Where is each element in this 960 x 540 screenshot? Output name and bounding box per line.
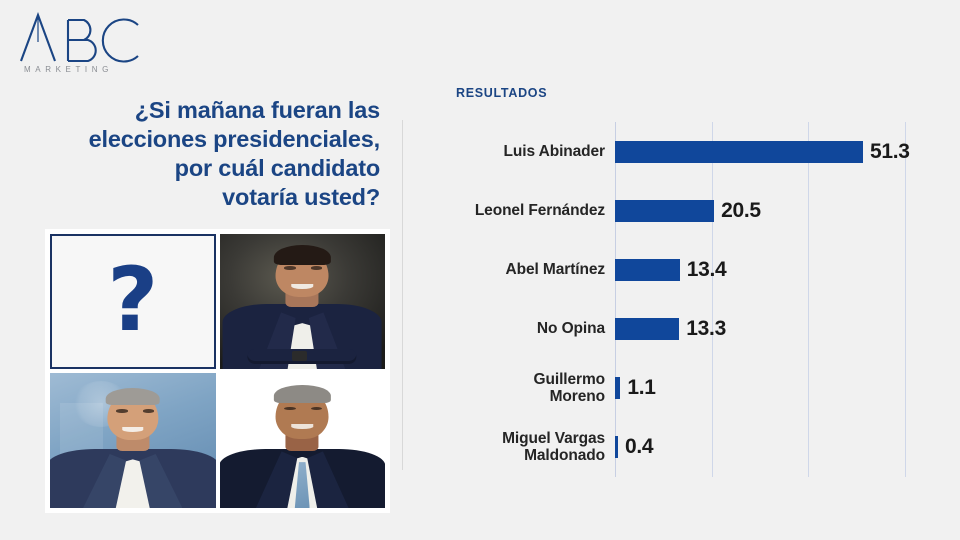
chart-row-label-line: Maldonado: [403, 447, 605, 464]
chart-row-label: Leonel Fernández: [403, 202, 615, 219]
chart-row-label-line: Miguel Vargas: [403, 430, 605, 447]
question-mark-placeholder: ?: [50, 234, 216, 369]
chart-row-label-line: Leonel Fernández: [403, 202, 605, 219]
portrait-image: [50, 373, 216, 508]
chart-bar[interactable]: [615, 377, 620, 399]
logo-subtitle: MARKETING: [24, 65, 168, 74]
chart-bar-value: 0.4: [625, 435, 653, 459]
chart-row-label: No Opina: [403, 320, 615, 337]
chart-bar-wrap: 20.5: [615, 181, 960, 240]
chart-bar[interactable]: [615, 318, 679, 340]
abc-logo-icon: [18, 12, 144, 64]
chart-row-label-line: Abel Martínez: [403, 261, 605, 278]
chart-row-label: Luis Abinader: [403, 143, 615, 160]
chart-row-label-line: Guillermo: [403, 371, 605, 388]
chart-row[interactable]: No Opina13.3: [403, 300, 960, 359]
headline-line-1: ¿Si mañana fueran las: [24, 96, 380, 125]
chart-row[interactable]: Leonel Fernández20.5: [403, 181, 960, 240]
bar-chart: Luis Abinader51.3Leonel Fernández20.5Abe…: [403, 122, 960, 477]
chart-bar-wrap: 1.1: [615, 359, 960, 418]
chart-bar-value: 1.1: [627, 376, 655, 400]
chart-bar-wrap: 13.4: [615, 240, 960, 299]
headline-line-3: por cuál candidato: [24, 154, 380, 183]
chart-bar[interactable]: [615, 259, 680, 281]
headline-line-4: votaría usted?: [24, 183, 380, 212]
left-panel: MARKETING ¿Si mañana fueran las eleccion…: [0, 0, 402, 540]
chart-row[interactable]: Abel Martínez13.4: [403, 240, 960, 299]
candidate-photo-blue-background: [50, 373, 216, 508]
chart-bar-wrap: 0.4: [615, 418, 960, 477]
results-panel: RESULTADOS Luis Abinader51.3Leonel Ferná…: [403, 0, 960, 540]
chart-row-label-line: Moreno: [403, 388, 605, 405]
chart-bar-value: 20.5: [721, 199, 761, 223]
chart-row-label: GuillermoMoreno: [403, 371, 615, 406]
chart-row-label: Abel Martínez: [403, 261, 615, 278]
chart-bar-value: 13.4: [687, 258, 727, 282]
chart-bar-wrap: 13.3: [615, 300, 960, 359]
chart-title: RESULTADOS: [456, 86, 547, 100]
chart-row[interactable]: Luis Abinader51.3: [403, 122, 960, 181]
candidate-photo-dark-background: [220, 234, 386, 369]
chart-bar[interactable]: [615, 141, 863, 163]
portrait-image: [220, 373, 386, 508]
brand-logo: MARKETING: [18, 12, 168, 74]
chart-bar-value: 51.3: [870, 140, 910, 164]
chart-bar[interactable]: [615, 200, 714, 222]
chart-bar[interactable]: [615, 436, 618, 458]
chart-row[interactable]: GuillermoMoreno1.1: [403, 359, 960, 418]
chart-row[interactable]: Miguel VargasMaldonado0.4: [403, 418, 960, 477]
page-title: ¿Si mañana fueran las elecciones preside…: [24, 96, 380, 212]
headline-line-2: elecciones presidenciales,: [24, 125, 380, 154]
chart-row-label: Miguel VargasMaldonado: [403, 430, 615, 465]
chart-row-label-line: Luis Abinader: [403, 143, 605, 160]
chart-row-label-line: No Opina: [403, 320, 605, 337]
candidate-photo-green-background: [220, 373, 386, 508]
candidate-photo-grid: ?: [50, 234, 385, 508]
candidate-photo-card: ?: [45, 229, 390, 513]
chart-rows: Luis Abinader51.3Leonel Fernández20.5Abe…: [403, 122, 960, 477]
question-mark-icon: ?: [107, 256, 158, 344]
portrait-image: [220, 234, 386, 369]
chart-bar-value: 13.3: [686, 317, 726, 341]
chart-bar-wrap: 51.3: [615, 122, 960, 181]
